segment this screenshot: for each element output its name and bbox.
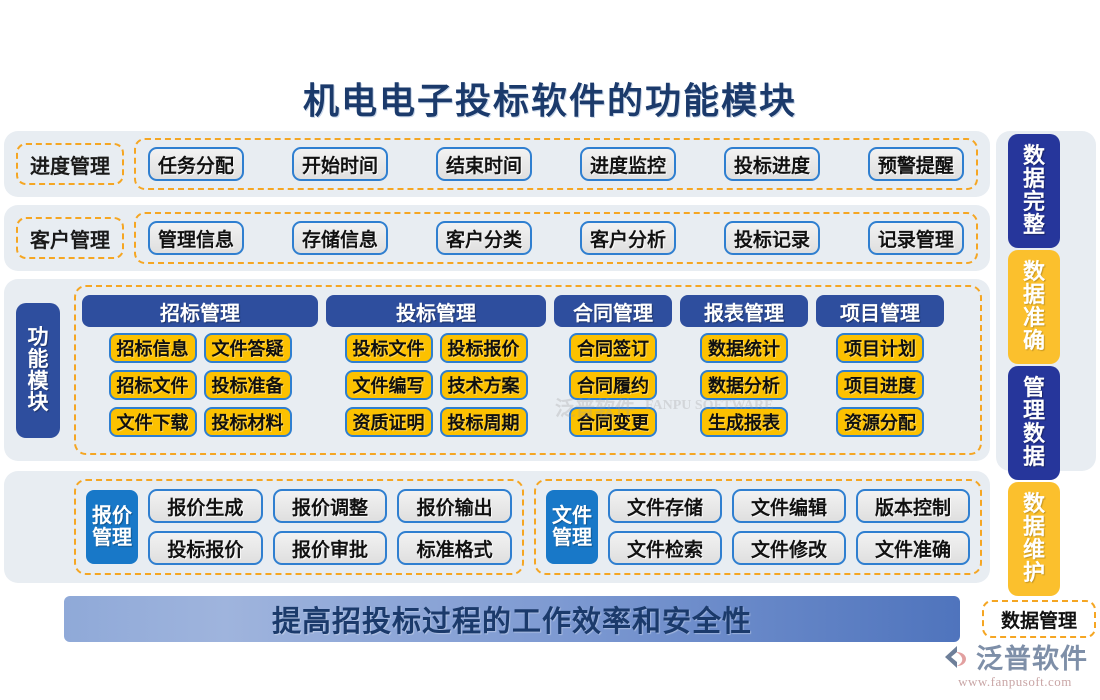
side1-c2: 据 bbox=[1023, 168, 1045, 191]
progress-tag-group: 任务分配 开始时间 结束时间 进度监控 投标进度 预警提醒 bbox=[134, 138, 978, 190]
tag-bid-progress[interactable]: 投标进度 bbox=[724, 147, 820, 181]
tag-quote-output[interactable]: 报价输出 bbox=[397, 489, 512, 523]
tag-early-warning[interactable]: 预警提醒 bbox=[868, 147, 964, 181]
ytag-bid-material[interactable]: 投标材料 bbox=[204, 407, 292, 437]
side4-c4: 护 bbox=[1023, 562, 1045, 585]
file-management-group: 文件 管理 文件存储 文件编辑 版本控制 文件检索 文件修改 文件准确 bbox=[534, 479, 982, 575]
tag-end-time[interactable]: 结束时间 bbox=[436, 147, 532, 181]
row-label-progress: 进度管理 bbox=[16, 143, 124, 185]
side3-c1: 管 bbox=[1023, 377, 1045, 400]
side1-c1: 数 bbox=[1023, 145, 1045, 168]
file-label-line1: 文件 bbox=[552, 505, 592, 527]
side4-c2: 据 bbox=[1023, 516, 1045, 539]
side3-c2: 理 bbox=[1023, 400, 1045, 423]
tag-file-search[interactable]: 文件检索 bbox=[608, 531, 722, 565]
tag-customer-analysis[interactable]: 客户分析 bbox=[580, 221, 676, 255]
ytag-project-progress[interactable]: 项目进度 bbox=[836, 370, 924, 400]
ytag-tender-info[interactable]: 招标信息 bbox=[109, 333, 197, 363]
ytag-data-statistics[interactable]: 数据统计 bbox=[700, 333, 788, 363]
side2-c4: 确 bbox=[1023, 330, 1045, 353]
tag-file-storage[interactable]: 文件存储 bbox=[608, 489, 722, 523]
sidebar-block-data-accuracy[interactable]: 数 据 准 确 bbox=[1008, 250, 1060, 364]
side1-c3: 完 bbox=[1023, 191, 1045, 214]
quote-label-line1: 报价 bbox=[92, 505, 132, 527]
tag-quote-generate[interactable]: 报价生成 bbox=[148, 489, 263, 523]
bottom-banner: 提高招投标过程的工作效率和安全性 bbox=[64, 596, 960, 642]
side3-c4: 据 bbox=[1023, 446, 1045, 469]
customer-management-row: 客户管理 管理信息 存储信息 客户分类 客户分析 投标记录 记录管理 bbox=[4, 205, 990, 271]
module-header-project: 项目管理 bbox=[816, 295, 944, 327]
tag-quote-approval[interactable]: 报价审批 bbox=[273, 531, 388, 565]
tag-version-control[interactable]: 版本控制 bbox=[856, 489, 970, 523]
module-column-bidding: 投标管理 投标文件 文件编写 资质证明 投标报价 技术方案 投标周期 bbox=[326, 295, 546, 437]
tag-standard-format[interactable]: 标准格式 bbox=[397, 531, 512, 565]
side4-c1: 数 bbox=[1023, 493, 1045, 516]
page-title: 机电电子投标软件的功能模块 bbox=[0, 72, 1100, 124]
module-column-report: 报表管理 数据统计 数据分析 生成报表 bbox=[680, 295, 808, 437]
ytag-bid-doc[interactable]: 投标文件 bbox=[345, 333, 433, 363]
vlabel-char-1: 功 bbox=[28, 327, 49, 349]
tag-customer-category[interactable]: 客户分类 bbox=[436, 221, 532, 255]
logo-name: 泛普软件 bbox=[976, 637, 1088, 676]
fanpu-logo-icon bbox=[942, 642, 972, 672]
sidebar-footer-label: 数据管理 bbox=[982, 600, 1096, 638]
ytag-file-download[interactable]: 文件下载 bbox=[109, 407, 197, 437]
vlabel-char-4: 块 bbox=[28, 392, 49, 414]
sidebar-block-data-integrity[interactable]: 数 据 完 整 bbox=[1008, 134, 1060, 248]
module-column-tender: 招标管理 招标信息 招标文件 文件下载 文件答疑 投标准备 投标材料 bbox=[82, 295, 318, 437]
tag-task-assignment[interactable]: 任务分配 bbox=[148, 147, 244, 181]
ytag-contract-perform[interactable]: 合同履约 bbox=[569, 370, 657, 400]
logo-url: www.fanpusoft.com bbox=[958, 674, 1072, 690]
tag-file-accuracy[interactable]: 文件准确 bbox=[856, 531, 970, 565]
side2-c1: 数 bbox=[1023, 261, 1045, 284]
tag-record-management[interactable]: 记录管理 bbox=[868, 221, 964, 255]
ytag-tech-plan[interactable]: 技术方案 bbox=[440, 370, 528, 400]
progress-management-row: 进度管理 任务分配 开始时间 结束时间 进度监控 投标进度 预警提醒 bbox=[4, 131, 990, 197]
quote-management-group: 报价 管理 报价生成 报价调整 报价输出 投标报价 报价审批 标准格式 bbox=[74, 479, 524, 575]
ytag-bid-quote[interactable]: 投标报价 bbox=[440, 333, 528, 363]
side1-c4: 整 bbox=[1023, 214, 1045, 237]
ytag-file-qa[interactable]: 文件答疑 bbox=[204, 333, 292, 363]
row-label-customer: 客户管理 bbox=[16, 217, 124, 259]
ytag-bid-prep[interactable]: 投标准备 bbox=[204, 370, 292, 400]
ytag-contract-change[interactable]: 合同变更 bbox=[569, 407, 657, 437]
ytag-project-plan[interactable]: 项目计划 bbox=[836, 333, 924, 363]
module-header-bidding: 投标管理 bbox=[326, 295, 546, 327]
brand-logo: 泛普软件 www.fanpusoft.com bbox=[942, 637, 1088, 690]
tag-bid-record[interactable]: 投标记录 bbox=[724, 221, 820, 255]
tag-start-time[interactable]: 开始时间 bbox=[292, 147, 388, 181]
tag-file-modify[interactable]: 文件修改 bbox=[732, 531, 846, 565]
side3-c3: 数 bbox=[1023, 423, 1045, 446]
quote-label-line2: 管理 bbox=[92, 527, 132, 549]
tag-manage-info[interactable]: 管理信息 bbox=[148, 221, 244, 255]
ytag-data-analysis[interactable]: 数据分析 bbox=[700, 370, 788, 400]
sidebar-block-data-maintenance[interactable]: 数 据 维 护 bbox=[1008, 482, 1060, 596]
ytag-generate-report[interactable]: 生成报表 bbox=[700, 407, 788, 437]
module-header-contract: 合同管理 bbox=[554, 295, 672, 327]
tag-quote-adjust[interactable]: 报价调整 bbox=[273, 489, 388, 523]
vlabel-char-3: 模 bbox=[28, 371, 49, 393]
modules-dashed-container: 招标管理 招标信息 招标文件 文件下载 文件答疑 投标准备 投标材料 投标管理 … bbox=[74, 285, 982, 455]
side4-c3: 维 bbox=[1023, 539, 1045, 562]
customer-tag-group: 管理信息 存储信息 客户分类 客户分析 投标记录 记录管理 bbox=[134, 212, 978, 264]
ytag-resource-allocation[interactable]: 资源分配 bbox=[836, 407, 924, 437]
infographic-page: 机电电子投标软件的功能模块 进度管理 任务分配 开始时间 结束时间 进度监控 投… bbox=[0, 0, 1100, 700]
tag-file-edit[interactable]: 文件编辑 bbox=[732, 489, 846, 523]
ytag-bid-cycle[interactable]: 投标周期 bbox=[440, 407, 528, 437]
vertical-label-function-modules: 功 能 模 块 bbox=[16, 303, 60, 438]
ytag-tender-doc[interactable]: 招标文件 bbox=[109, 370, 197, 400]
tag-bid-quote-bottom[interactable]: 投标报价 bbox=[148, 531, 263, 565]
tag-progress-monitor[interactable]: 进度监控 bbox=[580, 147, 676, 181]
side2-c2: 据 bbox=[1023, 284, 1045, 307]
tag-store-info[interactable]: 存储信息 bbox=[292, 221, 388, 255]
group-label-quote: 报价 管理 bbox=[86, 490, 138, 564]
file-label-line2: 管理 bbox=[552, 527, 592, 549]
module-column-contract: 合同管理 合同签订 合同履约 合同变更 bbox=[554, 295, 672, 437]
ytag-contract-sign[interactable]: 合同签订 bbox=[569, 333, 657, 363]
module-column-project: 项目管理 项目计划 项目进度 资源分配 bbox=[816, 295, 944, 437]
side2-c3: 准 bbox=[1023, 307, 1045, 330]
module-header-tender: 招标管理 bbox=[82, 295, 318, 327]
ytag-doc-writing[interactable]: 文件编写 bbox=[345, 370, 433, 400]
group-label-file: 文件 管理 bbox=[546, 490, 598, 564]
vlabel-char-2: 能 bbox=[28, 349, 49, 371]
ytag-qualification[interactable]: 资质证明 bbox=[345, 407, 433, 437]
module-header-report: 报表管理 bbox=[680, 295, 808, 327]
sidebar-block-manage-data[interactable]: 管 理 数 据 bbox=[1008, 366, 1060, 480]
